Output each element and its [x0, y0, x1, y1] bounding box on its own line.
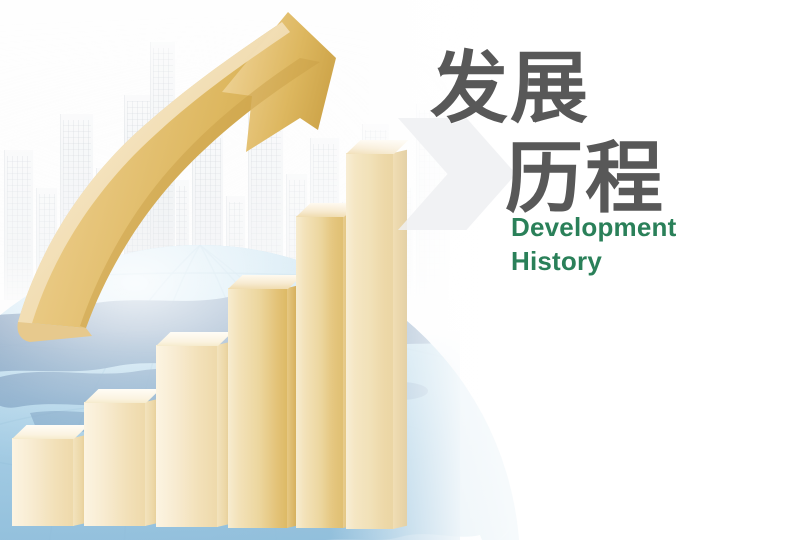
- title-english-line-2: History: [511, 246, 602, 277]
- bar-1: [12, 438, 74, 526]
- bar-2: [84, 402, 146, 526]
- bar-3: [156, 345, 218, 527]
- title-english-line-1: Development: [511, 212, 676, 243]
- banner-image: 发展 历程 Development History: [0, 0, 800, 540]
